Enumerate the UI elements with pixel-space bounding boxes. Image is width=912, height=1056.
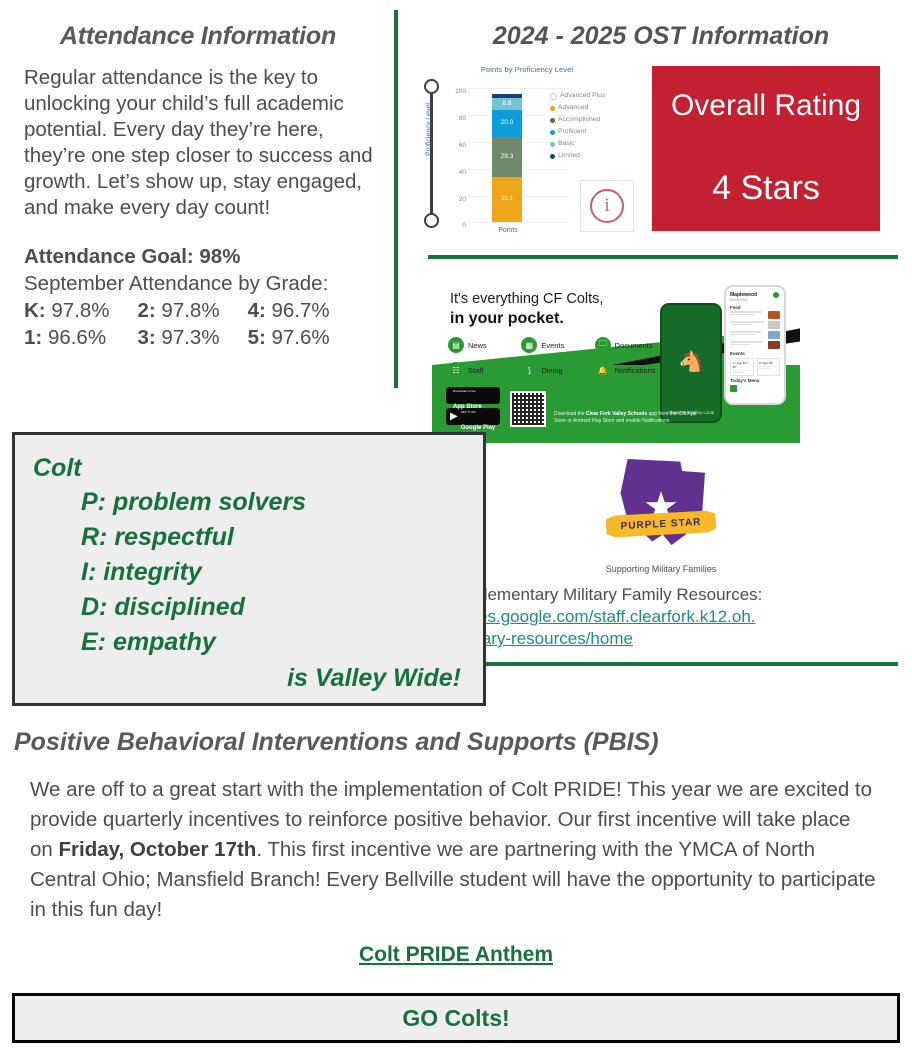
proficiency-chart: Points by Proficiency Level Proficiency …: [418, 59, 636, 241]
pride-line-d: D: disciplined: [81, 590, 465, 625]
grade-label: 3:: [137, 326, 155, 349]
google-play-badge[interactable]: ▶ GET IT ON Google Play: [446, 408, 500, 425]
pbis-title: Positive Behavioral Interventions and Su…: [14, 728, 659, 757]
divider-below-military: [414, 662, 898, 666]
legend-swatch-advanced: [550, 106, 555, 111]
chart-gridline: [468, 222, 568, 223]
google-play-small-label: GET IT ON: [461, 410, 476, 414]
chart-slider-knob-top[interactable]: [424, 79, 439, 94]
table-row: 1: 96.6% 3: 97.3% 5: 97.6%: [24, 324, 330, 351]
phone-screen-subtitle: Elementary: [730, 298, 780, 302]
grade-value: 96.6%: [48, 326, 106, 349]
phone-text-lines: [730, 321, 766, 327]
chart-y-tick: 40: [459, 169, 466, 176]
chart-segment-basic: 8.8: [492, 98, 522, 110]
legend-item: Proficient: [550, 126, 605, 138]
google-play-big-label: Google Play: [461, 425, 496, 431]
promo-feature-label: Documents: [615, 341, 653, 350]
go-colts-box: GO Colts!: [12, 993, 900, 1043]
chart-slider-knob-bottom[interactable]: [424, 213, 439, 228]
vertical-divider: [394, 10, 398, 388]
grade-cell: K: 97.8%: [24, 297, 137, 324]
chart-y-tick: 20: [459, 196, 466, 203]
grade-label: 5:: [248, 326, 266, 349]
qr-code[interactable]: [510, 391, 546, 427]
chart-segment-advanced: 33.1: [492, 177, 522, 222]
grade-cell: 5: 97.6%: [248, 324, 330, 351]
chart-y-ticks: 0 20 40 60 80 100: [446, 80, 466, 226]
legend-item: Accomplished: [550, 114, 605, 126]
legend-label: Advanced: [558, 102, 588, 114]
legend-item: Advanced Plus: [550, 90, 605, 102]
attendance-goal: Attendance Goal: 98%: [24, 243, 378, 270]
promo-feature-label: Dining: [541, 366, 562, 375]
promo-feature-label: Staff: [468, 366, 483, 375]
attendance-column: Attendance Information Regular attendanc…: [0, 0, 392, 420]
colt-pride-anthem-link[interactable]: Colt PRIDE Anthem: [359, 943, 553, 966]
people-icon: ☷: [448, 362, 464, 378]
overall-rating-box: Overall Rating 4 Stars: [652, 66, 880, 231]
list-item: [730, 321, 780, 329]
phone-colt-logo-icon: 🐴: [662, 349, 720, 374]
phone-thumbnail: [768, 311, 780, 319]
phone-menu-tile: [730, 385, 737, 392]
list-item: [730, 331, 780, 339]
legend-swatch-proficient: [550, 130, 555, 135]
legend-swatch-accomplished: [550, 118, 555, 123]
legend-item: Advanced: [550, 102, 605, 114]
promo-feature-label: Notifications: [615, 366, 656, 375]
phone-text-lines: [730, 331, 766, 337]
phone-thumbnail: [768, 321, 780, 329]
phone-section-events: Events: [730, 351, 780, 356]
pride-line-i: I: integrity: [81, 555, 465, 590]
promo-feature-dining: ⟆Dining: [521, 362, 594, 378]
phone-event-date: 1 / Apr 03 / 05: [733, 361, 752, 369]
legend-item: Basic: [550, 138, 605, 150]
table-row: K: 97.8% 2: 97.8% 4: 96.7%: [24, 297, 330, 324]
go-colts-text: GO Colts!: [402, 1005, 509, 1032]
app-store-small-label: Download on the: [453, 389, 476, 393]
phone-section-today: Today's Menu: [730, 378, 780, 383]
legend-swatch-limited: [550, 154, 555, 159]
grade-cell: 3: 97.3%: [137, 324, 247, 351]
grade-cell: 1: 96.6%: [24, 324, 137, 351]
legend-swatch-advanced-plus: [550, 93, 557, 100]
legend-label: Basic: [558, 138, 575, 150]
promo-feature-news: ▤News: [448, 337, 521, 353]
promo-feature-label: Events: [541, 341, 564, 350]
attendance-subtitle: September Attendance by Grade:: [24, 270, 378, 297]
grade-value: 97.3%: [161, 326, 219, 349]
chart-x-axis-label: Points: [480, 227, 536, 234]
grade-value: 97.8%: [51, 299, 109, 322]
phone-thumbnail: [768, 331, 780, 339]
bell-icon: 🔔: [595, 362, 611, 378]
chart-y-tick: 60: [459, 142, 466, 149]
legend-label: Limited: [558, 150, 580, 162]
chart-stacked-bar: 8.8 20.0 29.3 33.1: [492, 94, 522, 222]
purple-star-badge: ★ PURPLE STAR: [602, 459, 720, 557]
grade-value: 97.8%: [161, 299, 219, 322]
chart-plot-area: Proficiency Level 0 20 40 60 80 100: [418, 74, 636, 234]
chart-gridline: [468, 88, 568, 89]
chart-legend: Advanced Plus Advanced Accomplished Prof…: [550, 90, 605, 162]
chart-title: Points by Proficiency Level: [418, 59, 636, 74]
pbis-incentive-date: Friday, October 17th: [59, 838, 257, 861]
top-section: Attendance Information Regular attendanc…: [0, 0, 912, 420]
promo-headline-2: in your pocket.: [450, 310, 564, 328]
grade-label: 2:: [137, 299, 155, 322]
grade-value: 97.6%: [272, 326, 330, 349]
promo-feature-row: ▤News ▦Events 🗀Documents: [448, 337, 668, 353]
legend-label: Accomplished: [558, 114, 600, 126]
chart-info-box[interactable]: i: [580, 180, 634, 232]
promo-headline-1: It's everything CF Colts,: [450, 291, 603, 307]
attendance-title: Attendance Information: [18, 22, 378, 51]
phone-status-dot-icon: [773, 292, 779, 298]
ost-column: 2024 - 2025 OST Information Points by Pr…: [392, 0, 912, 420]
phone-mockup-back: 🐴 Clear Fork Valley Local: [660, 303, 722, 423]
colt-pride-box: Colt P: problem solvers R: respectful I:…: [12, 432, 486, 706]
promo-feature-row: ☷Staff ⟆Dining 🔔Notifications: [448, 362, 668, 378]
attendance-paragraph: Regular attendance is the key to unlocki…: [24, 65, 378, 221]
pride-line-r: R: respectful: [81, 520, 465, 555]
promo-feature-label: News: [468, 341, 487, 350]
attendance-grade-table: K: 97.8% 2: 97.8% 4: 96.7% 1: 96.6% 3: 9…: [24, 297, 330, 351]
chart-y-tick: 0: [462, 222, 466, 229]
grade-value: 96.7%: [272, 299, 330, 322]
pride-tagline: is Valley Wide!: [33, 660, 465, 696]
promo-feature-events: ▦Events: [521, 337, 594, 353]
anthem-link-wrap: Colt PRIDE Anthem: [0, 943, 912, 967]
play-triangle-icon: ▶: [450, 411, 458, 422]
promo-note-brand: Clear Fork Valley Schools: [586, 411, 647, 417]
promo-feature-documents: 🗀Documents: [595, 337, 668, 353]
chart-segment-accomplished: 29.3: [492, 137, 522, 177]
promo-download-note: Download the Clear Fork Valley Schools a…: [554, 411, 704, 425]
promo-feature-notifications: 🔔Notifications: [595, 362, 668, 378]
list-item: [730, 311, 780, 319]
pride-line-p: P: problem solvers: [81, 485, 465, 520]
grade-label: K:: [24, 299, 46, 322]
chart-y-axis-label: Proficiency Level: [426, 97, 433, 163]
chart-y-tick: 80: [459, 115, 466, 122]
divider-below-ost: [428, 255, 898, 259]
phone-event-card: 2 / Apr 03: [757, 358, 781, 376]
grade-label: 4:: [248, 299, 266, 322]
utensils-icon: ⟆: [521, 362, 537, 378]
pride-acronym-word: Colt: [33, 451, 465, 485]
phone-text-lines: [730, 311, 766, 317]
phone-mockup-front: Maplewood Elementary Feed Events 1 / Apr…: [724, 285, 786, 405]
ost-title: 2024 - 2025 OST Information: [410, 22, 912, 51]
pride-line-e: E: empathy: [81, 625, 465, 660]
phone-event-card: 1 / Apr 03 / 05: [730, 358, 754, 376]
calendar-icon: ▦: [521, 337, 537, 353]
phone-thumbnail: [768, 341, 780, 349]
chart-segment-proficient: 20.0: [492, 110, 522, 137]
pbis-body: We are off to a great start with the imp…: [30, 775, 876, 925]
chart-y-tick: 100: [455, 88, 466, 95]
info-icon[interactable]: i: [590, 189, 624, 223]
legend-swatch-basic: [550, 142, 555, 147]
qr-code-pattern: [512, 393, 544, 425]
store-badges[interactable]: Download on the App Store ▶ GET IT ON Go…: [446, 387, 500, 429]
newspaper-icon: ▤: [448, 337, 464, 353]
grade-label: 1:: [24, 326, 42, 349]
promo-note-pre: Download the: [554, 411, 586, 417]
grade-cell: 2: 97.8%: [137, 297, 247, 324]
phone-event-cards: 1 / Apr 03 / 05 2 / Apr 03: [730, 358, 780, 376]
promo-feature-staff: ☷Staff: [448, 362, 521, 378]
legend-label: Advanced Plus: [560, 90, 605, 102]
list-item: [730, 341, 780, 349]
phone-section-feed: Feed: [730, 305, 780, 310]
overall-rating-value: 4 Stars: [712, 169, 820, 208]
phone-event-date: 2 / Apr 03: [759, 361, 778, 365]
ost-row: Points by Proficiency Level Proficiency …: [418, 59, 912, 241]
legend-label: Proficient: [558, 126, 586, 138]
app-promo-banner[interactable]: It's everything CF Colts, in your pocket…: [432, 273, 800, 443]
grade-cell: 4: 96.7%: [248, 297, 330, 324]
folder-icon: 🗀: [595, 337, 611, 353]
overall-rating-label: Overall Rating: [671, 89, 861, 123]
legend-item: Limited: [550, 150, 605, 162]
phone-text-lines: [730, 341, 766, 347]
